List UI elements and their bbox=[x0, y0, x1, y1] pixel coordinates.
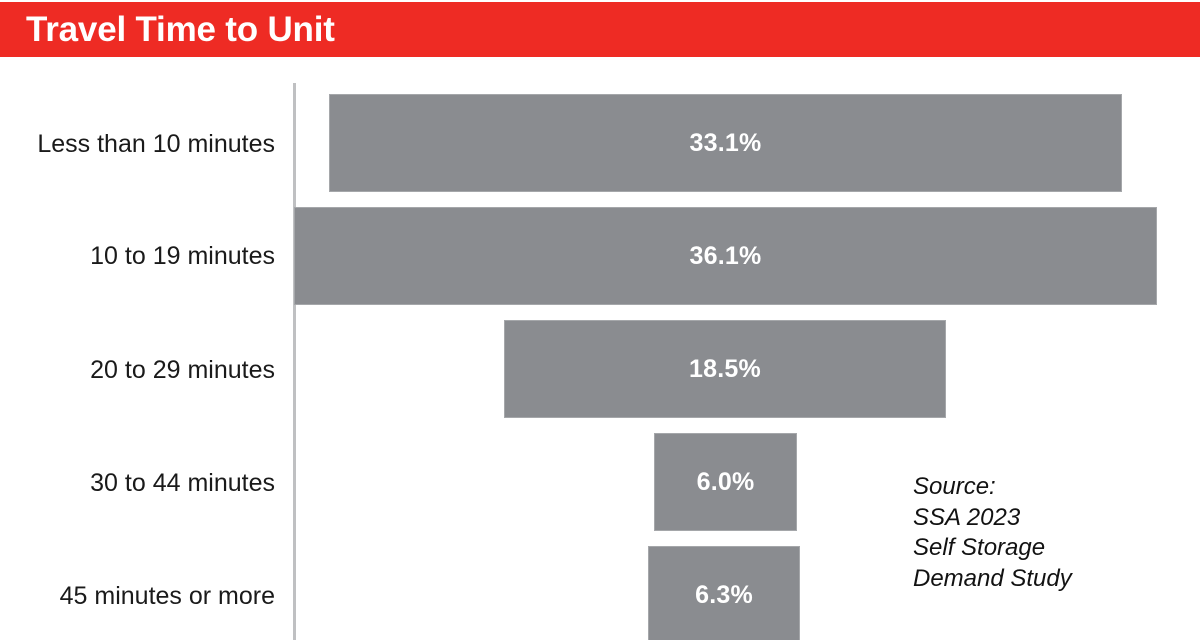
page-title: Travel Time to Unit bbox=[26, 12, 335, 47]
bar-value-label: 36.1% bbox=[690, 242, 762, 271]
bar-value-label: 18.5% bbox=[689, 355, 761, 384]
category-axis-line bbox=[293, 83, 296, 640]
bar: 36.1% bbox=[294, 207, 1157, 305]
chart-plot-area: 33.1%36.1%18.5%6.0%6.3% Less than 10 min… bbox=[0, 57, 1200, 640]
bar-value-label: 6.0% bbox=[697, 468, 755, 497]
bar: 33.1% bbox=[329, 94, 1122, 192]
bar-value-label: 33.1% bbox=[690, 129, 762, 158]
bar: 6.3% bbox=[648, 546, 800, 640]
bar: 6.0% bbox=[654, 433, 797, 531]
category-label: Less than 10 minutes bbox=[0, 132, 275, 157]
title-banner: Travel Time to Unit bbox=[0, 2, 1200, 57]
category-label: 45 minutes or more bbox=[0, 584, 275, 609]
source-note: Source: SSA 2023 Self Storage Demand Stu… bbox=[913, 472, 1072, 595]
category-label: 20 to 29 minutes bbox=[0, 358, 275, 383]
category-label: 10 to 19 minutes bbox=[0, 244, 275, 269]
slide-canvas: Travel Time to Unit 33.1%36.1%18.5%6.0%6… bbox=[0, 0, 1200, 640]
bar-value-label: 6.3% bbox=[695, 581, 753, 610]
bar: 18.5% bbox=[504, 320, 946, 418]
category-label: 30 to 44 minutes bbox=[0, 471, 275, 496]
